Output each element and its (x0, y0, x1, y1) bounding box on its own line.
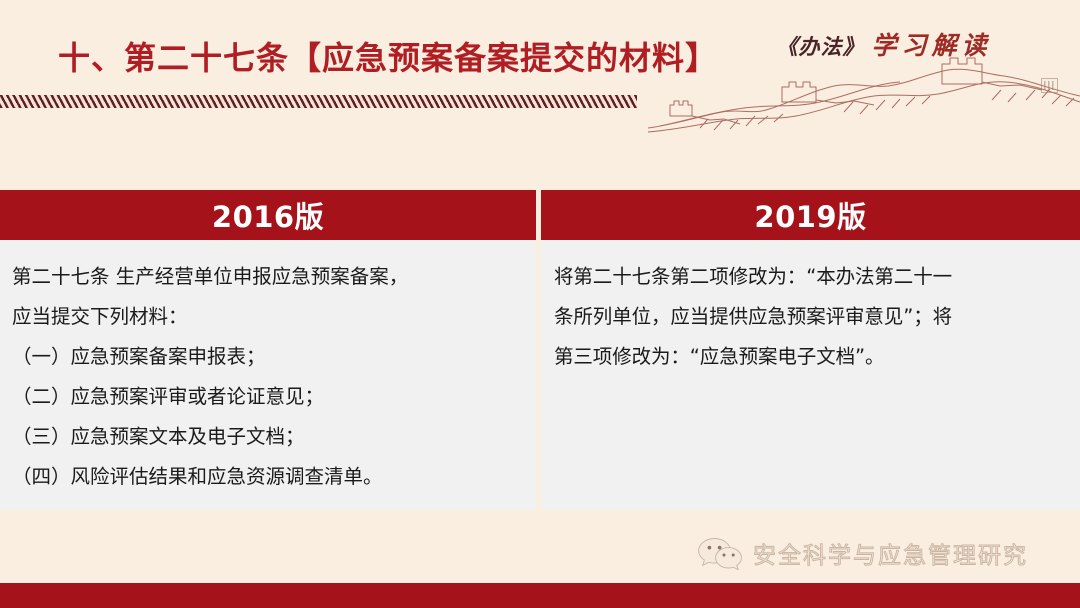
column-header-2019: 2019版 (541, 190, 1080, 240)
seal-stamp-icon (1041, 78, 1058, 93)
table-text-line: 第二十七条 生产经营单位申报应急预案备案， (12, 257, 522, 297)
wechat-logo-icon (697, 536, 743, 570)
table-text-line: 第三项修改为：“应急预案电子文档”。 (554, 337, 1060, 377)
table-text-line: 将第二十七条第二项修改为：“本办法第二十一 (554, 257, 1060, 297)
table-text-line: （二）应急预案评审或者论证意见； (12, 377, 522, 417)
page-title: 十、第二十七条【应急预案备案提交的材料】 (58, 33, 718, 79)
table-text-line: 应当提交下列材料： (12, 297, 522, 337)
column-header-2016: 2016版 (0, 190, 536, 240)
column-body-2016: 第二十七条 生产经营单位申报应急预案备案， 应当提交下列材料： （一）应急预案备… (0, 240, 536, 510)
table-column-2019: 2019版 将第二十七条第二项修改为：“本办法第二十一 条所列单位，应当提供应急… (541, 190, 1080, 510)
banner-artwork: 《办法》学习解读 (688, 4, 1080, 134)
footer-bar (0, 583, 1080, 608)
table-text-line: （四）风险评估结果和应急资源调查清单。 (12, 457, 522, 497)
column-body-2019: 将第二十七条第二项修改为：“本办法第二十一 条所列单位，应当提供应急预案评审意见… (541, 240, 1080, 510)
table-text-line: （三）应急预案文本及电子文档； (12, 417, 522, 457)
hatched-divider-icon (0, 95, 637, 108)
table-text-line: 条所列单位，应当提供应急预案评审意见”；将 (554, 297, 1060, 337)
footer-watermark: 安全科学与应急管理研究 (697, 536, 1028, 570)
great-wall-illustration-icon (648, 56, 1080, 134)
table-text-line: （一）应急预案备案申报表； (12, 337, 522, 377)
header-band: 十、第二十七条【应急预案备案提交的材料】 《办法》学习解读 (0, 0, 1080, 150)
version-comparison-table: 2016版 第二十七条 生产经营单位申报应急预案备案， 应当提交下列材料： （一… (0, 190, 1080, 510)
table-column-2016: 2016版 第二十七条 生产经营单位申报应急预案备案， 应当提交下列材料： （一… (0, 190, 536, 510)
footer-label: 安全科学与应急管理研究 (753, 536, 1028, 570)
